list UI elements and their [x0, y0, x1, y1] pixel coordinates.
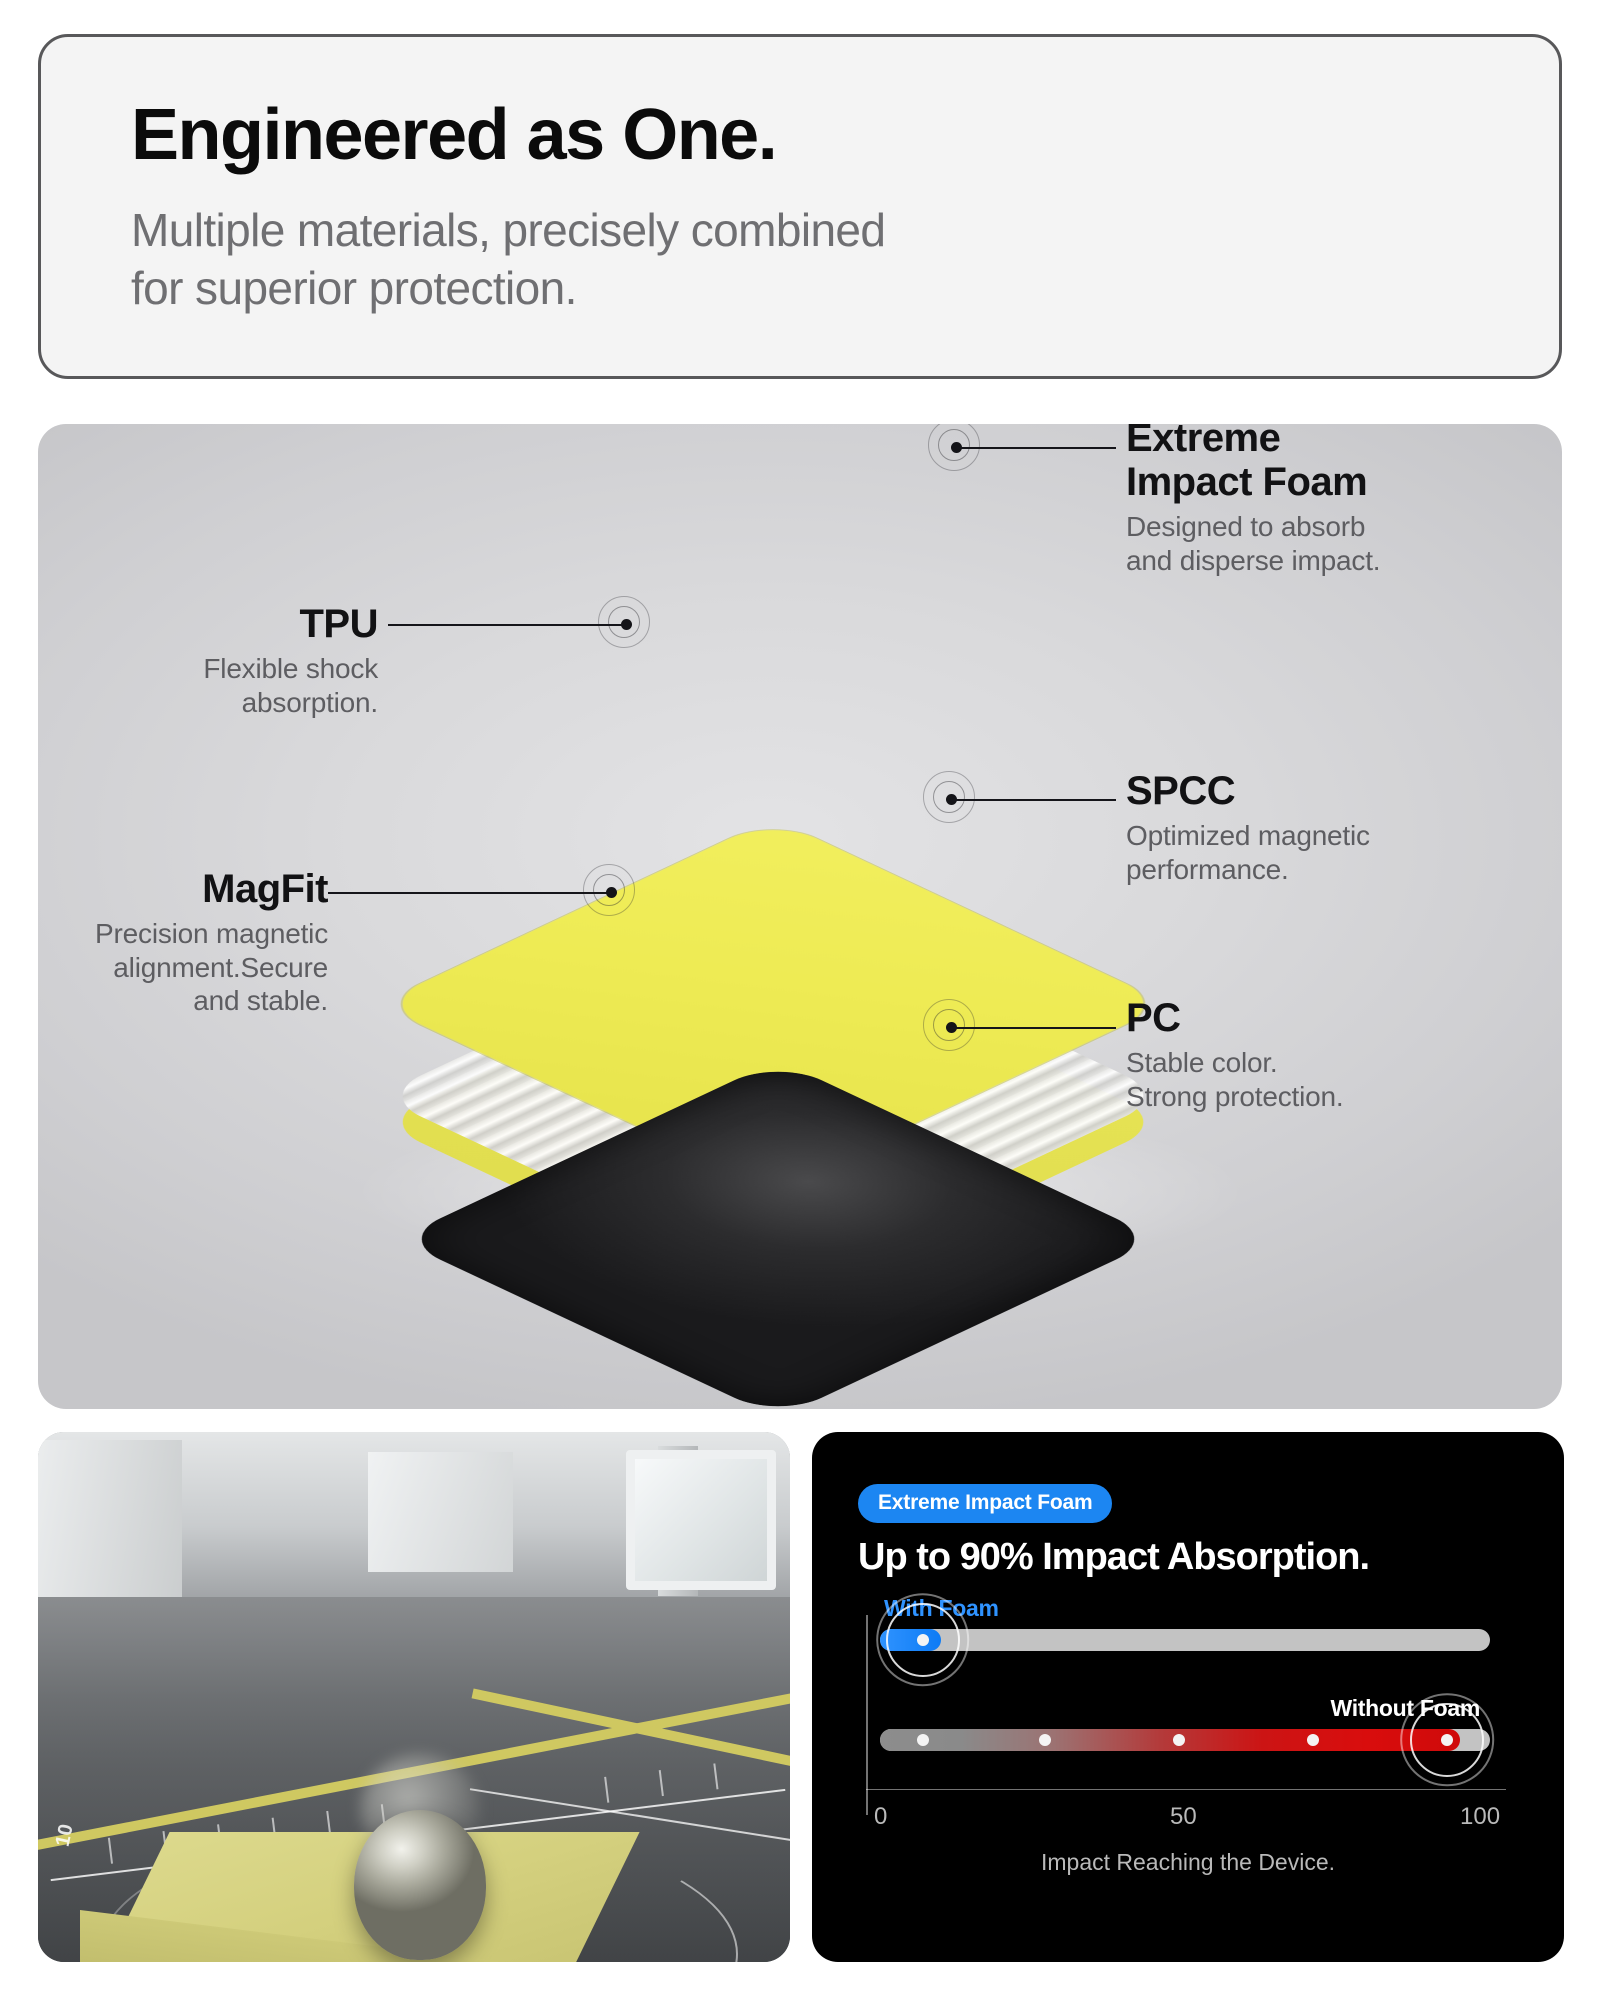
- callout-desc-line-1: Flexible shock: [98, 652, 378, 686]
- leader-line-magfit: [328, 892, 610, 894]
- x-tick-50: 50: [1170, 1803, 1197, 1831]
- infographic-page: Engineered as One. Multiple materials, p…: [0, 0, 1600, 2000]
- callout-title: PC: [1126, 996, 1343, 1040]
- leader-line-spcc: [951, 799, 1116, 801]
- chart-y-axis: [866, 1615, 868, 1815]
- callout-title-line-1: Extreme: [1126, 424, 1380, 460]
- callout-desc-line-2: performance.: [1126, 853, 1370, 887]
- series-marker-dot: [917, 1734, 929, 1746]
- page-subtitle: Multiple materials, precisely combined f…: [131, 201, 1559, 318]
- callout-desc-line-1: Stable color.: [1126, 1046, 1343, 1080]
- lab-cabinet-center: [368, 1452, 513, 1572]
- callout-title: SPCC: [1126, 769, 1370, 813]
- subtitle-line-1: Multiple materials, precisely combined: [131, 201, 1559, 259]
- x-tick-0: 0: [874, 1803, 887, 1831]
- callout-magfit: MagFit Precision magnetic alignment.Secu…: [58, 867, 328, 1018]
- callout-desc-line-2: and disperse impact.: [1126, 544, 1380, 578]
- callout-desc: Optimized magnetic performance.: [1126, 819, 1370, 886]
- leader-line-foam: [956, 447, 1116, 449]
- callout-extreme-impact-foam: Extreme Impact Foam Designed to absorb a…: [1126, 424, 1380, 577]
- chart-plot-area: With Foam Without Foam 0 50 100: [858, 1621, 1518, 1846]
- chart-x-axis: [866, 1789, 1506, 1791]
- exploded-view-panel: Extreme Impact Foam Designed to absorb a…: [38, 424, 1562, 1409]
- tpu-plate: [396, 1060, 1160, 1409]
- x-tick-100: 100: [1460, 1803, 1500, 1831]
- series-highlight-rings-without-foam: [1410, 1703, 1484, 1777]
- callout-desc: Stable color. Strong protection.: [1126, 1046, 1343, 1113]
- callout-desc: Precision magnetic alignment.Secure and …: [58, 917, 328, 1018]
- series-highlight-rings-with-foam: [886, 1603, 960, 1677]
- callout-desc-line-3: and stable.: [58, 984, 328, 1018]
- lab-window: [626, 1450, 776, 1590]
- steel-ball: [354, 1810, 486, 1960]
- callout-desc: Flexible shock absorption.: [98, 652, 378, 719]
- callout-desc-line-2: alignment.Secure: [58, 951, 328, 985]
- callout-tpu: TPU Flexible shock absorption.: [98, 602, 378, 719]
- series-marker-dot: [1307, 1734, 1319, 1746]
- leader-line-pc: [951, 1027, 1116, 1029]
- chart-x-axis-caption: Impact Reaching the Device.: [1041, 1849, 1335, 1876]
- callout-title: MagFit: [58, 867, 328, 911]
- chart-title: Up to 90% Impact Absorption.: [858, 1537, 1518, 1579]
- impact-absorption-chart-panel: Extreme Impact Foam Up to 90% Impact Abs…: [812, 1432, 1564, 1962]
- callout-desc-line-2: absorption.: [98, 686, 378, 720]
- scale-number: 10: [52, 1822, 79, 1849]
- series-marker-dot: [1173, 1734, 1185, 1746]
- series-marker-dot: [1039, 1734, 1051, 1746]
- header-card: Engineered as One. Multiple materials, p…: [38, 34, 1562, 379]
- callout-pc: PC Stable color. Strong protection.: [1126, 996, 1343, 1113]
- callout-title-line-2: Impact Foam: [1126, 460, 1380, 504]
- callout-desc: Designed to absorb and disperse impact.: [1126, 510, 1380, 577]
- callout-desc-line-1: Designed to absorb: [1126, 510, 1380, 544]
- chart-badge: Extreme Impact Foam: [858, 1484, 1112, 1523]
- leader-line-tpu: [388, 624, 623, 626]
- callout-desc-line-1: Optimized magnetic: [1126, 819, 1370, 853]
- page-title: Engineered as One.: [131, 99, 1559, 171]
- callout-spcc: SPCC Optimized magnetic performance.: [1126, 769, 1370, 886]
- drop-test-photo-panel: 10: [38, 1432, 790, 1962]
- subtitle-line-2: for superior protection.: [131, 259, 1559, 317]
- series-fill-without-foam: [880, 1729, 1460, 1751]
- callout-desc-line-1: Precision magnetic: [58, 917, 328, 951]
- callout-title: TPU: [98, 602, 378, 646]
- callout-title: Extreme Impact Foam: [1126, 424, 1380, 504]
- callout-desc-line-2: Strong protection.: [1126, 1080, 1343, 1114]
- series-track: [880, 1629, 1490, 1651]
